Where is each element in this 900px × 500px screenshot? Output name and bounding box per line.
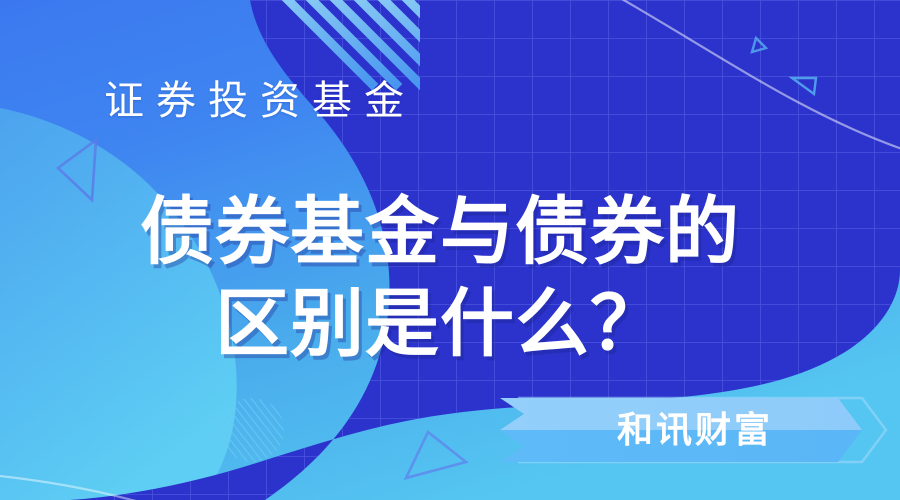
hatched-circle (220, 398, 284, 462)
poster-title-line-1: 债券基金与债券的 (140, 190, 740, 273)
poster-title-line-2: 区别是什么？ (0, 278, 880, 370)
poster-title: 债券基金与债券的 区别是什么？ (0, 186, 880, 370)
poster-canvas: 证券投资基金 债券基金与债券的 区别是什么？ 和讯财富 (0, 0, 900, 500)
poster-subtitle: 证券投资基金 (104, 78, 416, 124)
brand-label: 和讯财富 (560, 406, 830, 454)
